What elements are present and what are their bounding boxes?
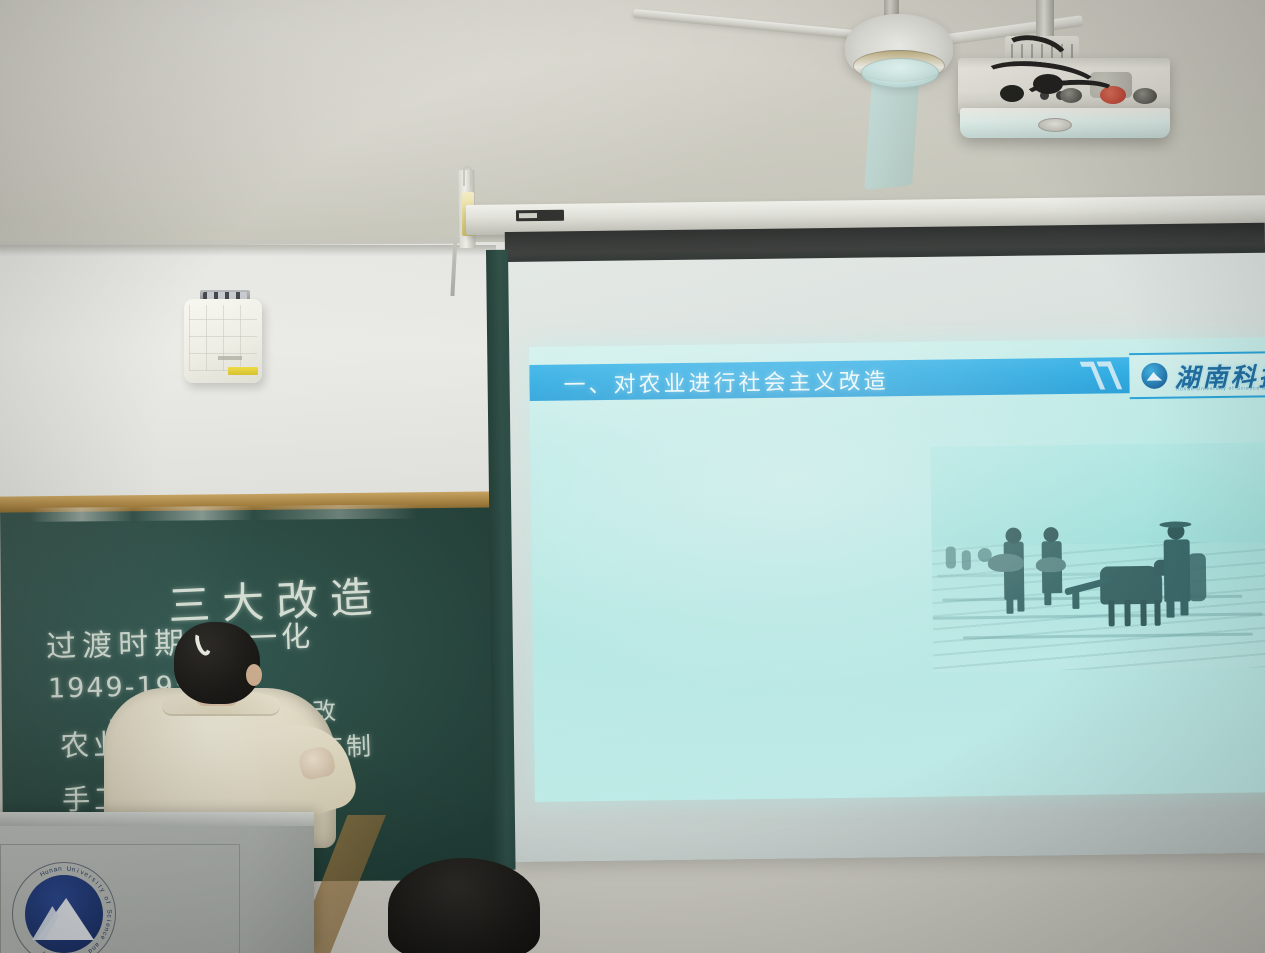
podium-side-panel [248, 818, 314, 953]
photo-distant-figure [962, 550, 971, 570]
cable-knot [1000, 85, 1024, 102]
photo-carry-basket [1036, 557, 1066, 572]
wireless-access-point-grid [189, 305, 257, 371]
teacher-ear [246, 664, 262, 686]
wireless-access-point-brand-text [218, 356, 242, 360]
wireless-access-point-yellow-label [228, 367, 258, 375]
photo-farmer-leg [1006, 596, 1013, 614]
wall-trim [0, 245, 500, 252]
projector-lens-icon [1038, 118, 1072, 132]
ceiling-fan-blade-down [864, 73, 920, 189]
student-head [388, 858, 540, 953]
photo-farmer-head [1005, 528, 1021, 544]
photo-ox-leg [1108, 600, 1114, 626]
photo-farmer-figure [1164, 539, 1191, 601]
projector-port-icon [1133, 88, 1157, 104]
photo-plow-handle [1072, 589, 1079, 609]
photo-farmer-figure [1188, 553, 1207, 601]
photo-distant-figure [946, 546, 956, 568]
photo-farmer-leg [1180, 597, 1188, 615]
photo-ox-leg [1124, 600, 1130, 626]
screen-bracket-hook-icon [463, 166, 472, 186]
ceiling-fan-light-glass [861, 58, 939, 88]
slide-title: 一、对农业进行社会主义改造 [563, 363, 888, 399]
podium-logo-english-text: Hunan University of Science and Technolo… [12, 862, 116, 953]
photo-carry-basket [988, 554, 1024, 572]
slide-historical-photo [930, 442, 1265, 671]
photo-ox-leg [1154, 600, 1160, 626]
photo-ox-leg [1140, 600, 1146, 626]
teacher-head [174, 622, 260, 704]
slide-logo-english: Hunan University of Science and Technolo… [1176, 385, 1265, 393]
podium-university-logo: Hunan University of Science and Technolo… [12, 862, 116, 953]
podium-top-surface [0, 812, 314, 826]
blackboard-line-guodushiqi: 过渡时期 [45, 618, 190, 666]
photo-farmer-leg [1017, 596, 1024, 612]
photo-farmer-head [1043, 527, 1058, 542]
screen-brand-label [516, 210, 564, 222]
projected-slide: 一、对农业进行社会主义改造 湖南科技大 Hunan University of … [529, 337, 1265, 802]
photo-farmer-leg [1044, 589, 1051, 605]
photo-farmer-leg [1166, 598, 1174, 618]
cable-knot [1033, 74, 1063, 94]
classroom-scene: 三大改造 过渡时期 一化 1949-1956 工改 私改 三改 农业 公有制 手… [0, 0, 1265, 953]
photo-farmer-hat [1159, 521, 1191, 527]
